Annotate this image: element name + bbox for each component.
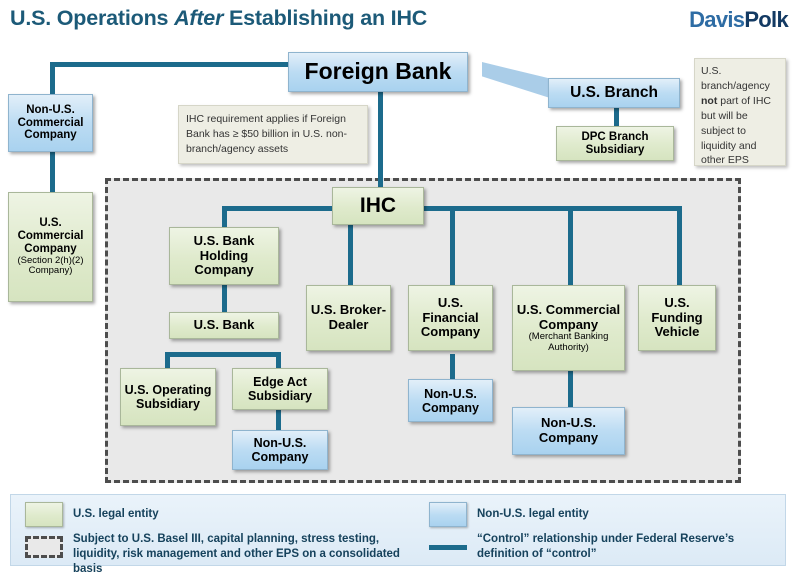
box-ihc-label: IHC	[360, 194, 396, 218]
note-ihc-requirement-text: IHC requirement applies if Foreign Bank …	[186, 113, 347, 155]
box-us-operating-subsidiary-label: U.S. Operating Subsidiary	[124, 383, 212, 411]
box-us-financial-company-label: U.S. Financial Company	[412, 296, 489, 340]
connector-ihc-to-financial-company	[450, 206, 455, 286]
box-us-commercial-company-2h2-label: U.S. Commercial Company	[12, 217, 89, 256]
box-commercial-non-us-company-label: Non-U.S. Company	[516, 416, 621, 445]
box-us-commercial-company-mba-sublabel: (Merchant Banking Authority)	[516, 332, 621, 353]
box-us-bank-holding-company[interactable]: U.S. Bank Holding Company	[169, 227, 279, 285]
header: U.S. Operations After Establishing an IH…	[0, 0, 796, 40]
connector-ihc-bus-left	[222, 206, 336, 211]
box-ihc[interactable]: IHC	[332, 187, 424, 225]
note-branch-text-part1: U.S. branch/agency	[701, 65, 770, 92]
box-us-bank[interactable]: U.S. Bank	[169, 312, 279, 339]
box-us-financial-company[interactable]: U.S. Financial Company	[408, 285, 493, 351]
box-us-commercial-company-2h2[interactable]: U.S. Commercial Company (Section 2(h)(2)…	[8, 192, 93, 302]
box-us-commercial-company-2h2-sublabel: (Section 2(h)(2) Company)	[12, 256, 89, 277]
note-branch-not-part-of-ihc: U.S. branch/agency not part of IHC but w…	[694, 58, 786, 166]
box-us-broker-dealer[interactable]: U.S. Broker-Dealer	[306, 285, 391, 351]
page-title: U.S. Operations After Establishing an IH…	[10, 6, 427, 31]
box-edge-act-subsidiary[interactable]: Edge Act Subsidiary	[232, 368, 328, 410]
box-us-bank-label: U.S. Bank	[194, 318, 255, 333]
legend-swatch-us-entity	[25, 502, 63, 527]
box-non-us-commercial-company[interactable]: Non-U.S. Commercial Company	[8, 94, 93, 152]
connector-foreign-bank-to-ihc	[378, 90, 383, 192]
box-us-branch-label: U.S. Branch	[570, 84, 658, 101]
logo-word-davis: Davis	[689, 7, 744, 32]
davis-polk-logo: DavisPolk	[689, 7, 788, 33]
connector-commercial-to-non-us-company	[568, 371, 573, 408]
connector-down-to-non-us-commercial	[50, 62, 55, 98]
box-us-operating-subsidiary[interactable]: U.S. Operating Subsidiary	[120, 368, 216, 426]
connector-financial-to-non-us-company	[450, 354, 455, 380]
note-branch-text-emphasis: not	[701, 95, 717, 107]
logo-word-polk: Polk	[744, 7, 788, 32]
box-us-commercial-company-mba[interactable]: U.S. Commercial Company (Merchant Bankin…	[512, 285, 625, 371]
box-us-broker-dealer-label: U.S. Broker-Dealer	[310, 303, 387, 332]
box-dpc-branch-subsidiary-label: DPC Branch Subsidiary	[560, 131, 670, 157]
box-edge-act-subsidiary-label: Edge Act Subsidiary	[236, 375, 324, 403]
legend-label-non-us-entity: Non-U.S. legal entity	[477, 507, 589, 522]
legend-label-control-line: “Control” relationship under Federal Res…	[477, 532, 777, 562]
connector-non-us-commercial-to-us-commercial	[50, 152, 55, 192]
connector-ihc-to-funding-vehicle	[677, 206, 682, 286]
connector-ihc-bus-right	[420, 206, 680, 211]
connector-edge-act-to-non-us-company	[276, 409, 281, 431]
slide-canvas: U.S. Operations After Establishing an IH…	[0, 0, 796, 575]
box-us-funding-vehicle-label: U.S. Funding Vehicle	[642, 296, 712, 340]
connector-us-bank-children-bus	[165, 352, 280, 357]
box-us-commercial-company-mba-label: U.S. Commercial Company	[516, 303, 621, 332]
connector-bus-foreign-bank-to-noncommercial	[50, 62, 290, 67]
connector-ihc-to-commercial-company	[568, 206, 573, 286]
box-us-branch[interactable]: U.S. Branch	[548, 78, 680, 108]
legend: U.S. legal entity Subject to U.S. Basel …	[10, 494, 786, 566]
note-ihc-requirement: IHC requirement applies if Foreign Bank …	[178, 105, 368, 164]
box-non-us-commercial-company-label: Non-U.S. Commercial Company	[12, 104, 89, 143]
box-foreign-bank[interactable]: Foreign Bank	[288, 52, 468, 92]
legend-swatch-dashed-region	[25, 536, 63, 558]
connector-wedge-foreign-bank-to-branch	[482, 62, 550, 98]
legend-label-dashed-region: Subject to U.S. Basel III, capital plann…	[73, 532, 413, 575]
box-us-funding-vehicle[interactable]: U.S. Funding Vehicle	[638, 285, 716, 351]
box-foreign-bank-label: Foreign Bank	[305, 59, 452, 85]
box-edge-act-non-us-company[interactable]: Non-U.S. Company	[232, 430, 328, 470]
connector-to-us-operating-subsidiary	[165, 352, 170, 369]
legend-swatch-non-us-entity	[429, 502, 467, 527]
box-commercial-non-us-company[interactable]: Non-U.S. Company	[512, 407, 625, 455]
box-financial-non-us-company[interactable]: Non-U.S. Company	[408, 379, 493, 422]
page-title-pre: U.S. Operations	[10, 6, 174, 30]
connector-to-edge-act-subsidiary	[276, 352, 281, 369]
box-edge-act-non-us-company-label: Non-U.S. Company	[236, 436, 324, 464]
legend-label-us-entity: U.S. legal entity	[73, 507, 159, 522]
legend-swatch-control-line	[429, 545, 467, 550]
page-title-emphasis: After	[174, 6, 223, 30]
box-dpc-branch-subsidiary[interactable]: DPC Branch Subsidiary	[556, 126, 674, 161]
box-us-bank-holding-company-label: U.S. Bank Holding Company	[173, 234, 275, 278]
box-financial-non-us-company-label: Non-U.S. Company	[412, 387, 489, 415]
page-title-post: Establishing an IHC	[223, 6, 427, 30]
